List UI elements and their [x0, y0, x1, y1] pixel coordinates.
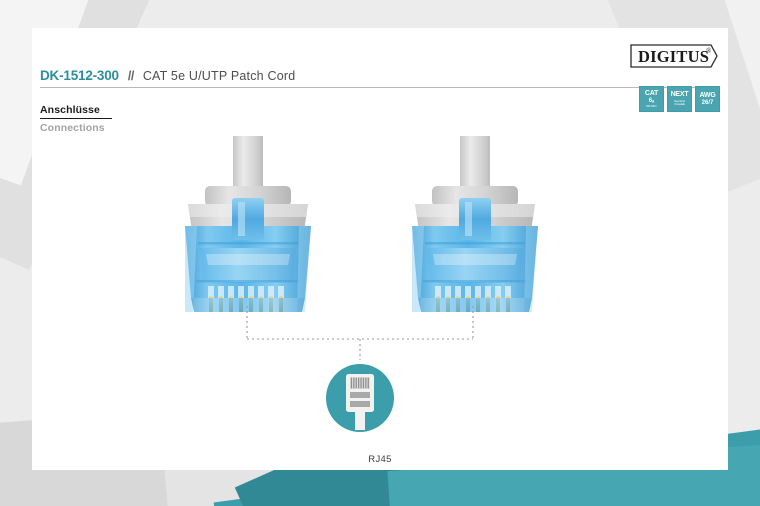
next-badge: NEXT Near End Crosstalk — [667, 86, 692, 112]
callout-leader-lines — [247, 306, 473, 360]
document-header: DK-1512-300 // CAT 5e U/UTP Patch Cord — [40, 68, 718, 88]
cat-badge: CAT 6ₐ 500 MHz — [639, 86, 664, 112]
cat-badge-main: CAT — [645, 90, 658, 97]
content-card: DIGITUS ® DK-1512-300 // CAT 5e U/UTP Pa… — [32, 28, 728, 470]
cat-badge-detail: 500 MHz — [646, 105, 656, 108]
cat-badge-sub: 6ₐ — [649, 98, 655, 104]
certification-badges: CAT 6ₐ 500 MHz NEXT Near End Crosstalk A… — [639, 86, 720, 112]
section-heading: Anschlüsse Connections — [40, 100, 112, 134]
rj45-callout: RJ45 — [32, 306, 728, 466]
part-number: DK-1512-300 — [40, 68, 119, 83]
digitus-logo: DIGITUS ® — [628, 42, 720, 70]
logo-registered-mark: ® — [706, 47, 712, 55]
connector-left — [185, 136, 311, 312]
section-heading-en: Connections — [40, 122, 112, 134]
product-title: CAT 5e U/UTP Patch Cord — [143, 69, 296, 83]
connector-right — [412, 136, 538, 312]
separator: // — [128, 69, 134, 83]
awg-badge-sub: 26/7 — [702, 100, 714, 106]
awg-badge: AWG 26/7 — [695, 86, 720, 112]
next-badge-main: NEXT — [671, 91, 689, 98]
datasheet-page: DIGITUS ® DK-1512-300 // CAT 5e U/UTP Pa… — [0, 0, 760, 506]
logo-wordmark: DIGITUS — [638, 47, 709, 66]
callout-label: RJ45 — [32, 454, 728, 465]
next-badge-detail: Near End Crosstalk — [669, 100, 691, 106]
section-heading-de: Anschlüsse — [40, 104, 112, 119]
awg-badge-main: AWG — [699, 92, 715, 99]
